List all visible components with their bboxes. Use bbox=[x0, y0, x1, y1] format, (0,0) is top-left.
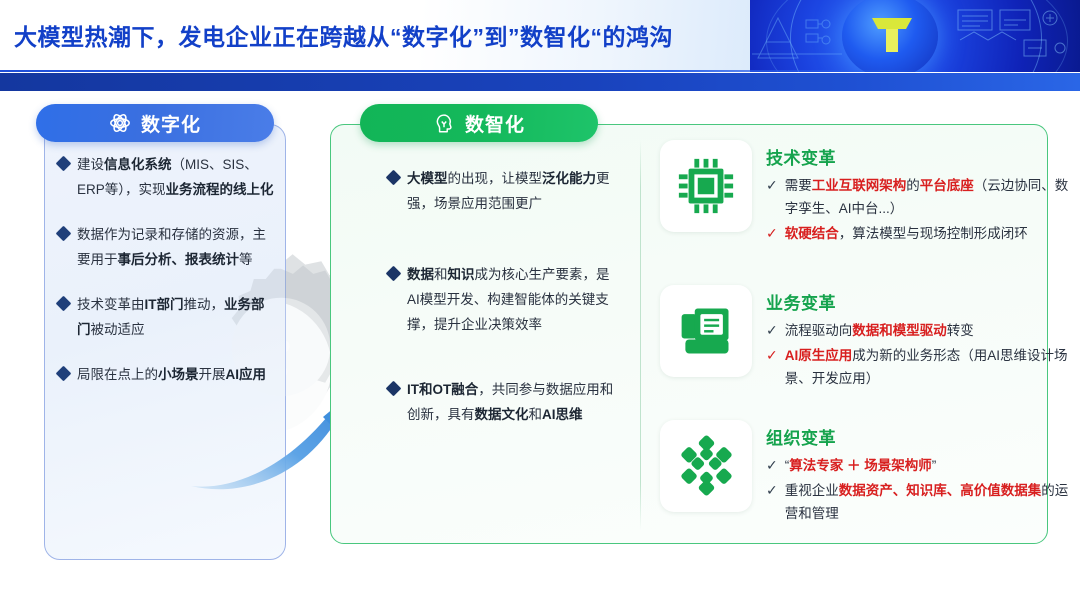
check-icon: ✓ bbox=[766, 454, 778, 477]
check-item: ✓ “算法专家 ＋ 场景架构师” bbox=[766, 454, 1080, 477]
check-icon: ✓ bbox=[766, 319, 778, 342]
atom-icon bbox=[109, 112, 131, 134]
section-title: 组织变革 bbox=[766, 424, 1080, 449]
check-icon: ✓ bbox=[766, 479, 778, 502]
check-item: ✓ 软硬结合，算法模型与现场控制形成闭环 bbox=[766, 222, 1080, 245]
check-text: 需要工业互联网架构的平台底座（云边协同、数字孪生、AI中台...） bbox=[785, 174, 1080, 220]
intelligentization-label: 数智化 bbox=[465, 110, 525, 137]
digitalization-label: 数字化 bbox=[141, 110, 201, 137]
check-item: ✓ 流程驱动向数据和模型驱动转变 bbox=[766, 319, 1080, 342]
bullet-diamond-icon bbox=[56, 156, 72, 172]
icon-tile bbox=[660, 285, 752, 377]
check-text: 软硬结合，算法模型与现场控制形成闭环 bbox=[785, 222, 1028, 245]
list-item: 技术变革由IT部门推动，业务部门被动适应 bbox=[58, 292, 276, 342]
list-item: 数据作为记录和存储的资源，主要用于事后分析、报表统计等 bbox=[58, 222, 276, 272]
bullet-text: 技术变革由IT部门推动，业务部门被动适应 bbox=[77, 292, 276, 342]
section-organization-transformation: 组织变革 ✓ “算法专家 ＋ 场景架构师” ✓ 重视企业数据资产、知识库、高价值… bbox=[660, 420, 1080, 527]
page-title: 大模型热潮下，发电企业正在跨越从“数字化”到”数智化“的鸿沟 bbox=[14, 18, 794, 52]
network-nodes-icon bbox=[675, 435, 737, 497]
intelligentization-bullet-list: 大模型的出现，让模型泛化能力更强，场景应用范围更广 数据和知识成为核心生产要素，… bbox=[388, 166, 618, 449]
list-item: 数据和知识成为核心生产要素，是AI模型开发、构建智能体的关键支撑，提升企业决策效… bbox=[388, 262, 618, 337]
check-text: 重视企业数据资产、知识库、高价值数据集的运营和管理 bbox=[785, 479, 1080, 525]
check-icon: ✓ bbox=[766, 344, 778, 367]
banner-underline bbox=[0, 70, 960, 72]
list-item: 大模型的出现，让模型泛化能力更强，场景应用范围更广 bbox=[388, 166, 618, 216]
bullet-diamond-icon bbox=[56, 296, 72, 312]
section-body: 组织变革 ✓ “算法专家 ＋ 场景架构师” ✓ 重视企业数据资产、知识库、高价值… bbox=[766, 420, 1080, 527]
check-icon: ✓ bbox=[766, 174, 778, 197]
check-text: AI原生应用成为新的业务形态（用AI思维设计场景、开发应用） bbox=[785, 344, 1080, 390]
digitalization-header-pill[interactable]: 数字化 bbox=[36, 104, 274, 142]
list-item: 局限在点上的小场景开展AI应用 bbox=[58, 362, 276, 387]
bullet-text: 大模型的出现，让模型泛化能力更强，场景应用范围更广 bbox=[407, 166, 618, 216]
bullet-diamond-icon bbox=[386, 381, 402, 397]
bullet-diamond-icon bbox=[386, 266, 402, 282]
document-stack-icon bbox=[676, 301, 736, 361]
section-title: 技术变革 bbox=[766, 144, 1080, 169]
check-item: ✓ 重视企业数据资产、知识库、高价值数据集的运营和管理 bbox=[766, 479, 1080, 525]
slide-root: 大模型热潮下，发电企业正在跨越从“数字化”到”数智化“的鸿沟 工业互联网产业联盟… bbox=[0, 0, 1080, 608]
cpu-chip-icon bbox=[675, 155, 737, 217]
section-technology-transformation: 技术变革 ✓ 需要工业互联网架构的平台底座（云边协同、数字孪生、AI中台...）… bbox=[660, 140, 1080, 247]
check-item: ✓ 需要工业互联网架构的平台底座（云边协同、数字孪生、AI中台...） bbox=[766, 174, 1080, 220]
bullet-text: 局限在点上的小场景开展AI应用 bbox=[77, 362, 266, 387]
ai-head-icon bbox=[433, 112, 455, 134]
header-banner: 大模型热潮下，发电企业正在跨越从“数字化”到”数智化“的鸿沟 bbox=[0, 0, 1080, 72]
banner-circuit-right-icon bbox=[954, 6, 1074, 66]
check-item: ✓ AI原生应用成为新的业务形态（用AI思维设计场景、开发应用） bbox=[766, 344, 1080, 390]
icon-tile bbox=[660, 140, 752, 232]
list-item: 建设信息化系统（MIS、SIS、ERP等），实现业务流程的线上化 bbox=[58, 152, 276, 202]
intelligentization-header-pill[interactable]: 数智化 bbox=[360, 104, 598, 142]
brand-t-logo-icon bbox=[868, 12, 916, 56]
bullet-text: 数据作为记录和存储的资源，主要用于事后分析、报表统计等 bbox=[77, 222, 276, 272]
bullet-text: IT和OT融合，共同参与数据应用和创新，具有数据文化和AI思维 bbox=[407, 377, 618, 427]
list-item: IT和OT融合，共同参与数据应用和创新，具有数据文化和AI思维 bbox=[388, 377, 618, 427]
banner-tech-graphic bbox=[750, 0, 1080, 72]
section-body: 业务变革 ✓ 流程驱动向数据和模型驱动转变 ✓ AI原生应用成为新的业务形态（用… bbox=[766, 285, 1080, 392]
section-business-transformation: 业务变革 ✓ 流程驱动向数据和模型驱动转变 ✓ AI原生应用成为新的业务形态（用… bbox=[660, 285, 1080, 392]
section-body: 技术变革 ✓ 需要工业互联网架构的平台底座（云边协同、数字孪生、AI中台...）… bbox=[766, 140, 1080, 247]
banner-bottom-strip bbox=[0, 73, 1080, 91]
digitalization-bullet-list: 建设信息化系统（MIS、SIS、ERP等），实现业务流程的线上化 数据作为记录和… bbox=[58, 152, 276, 407]
bullet-text: 建设信息化系统（MIS、SIS、ERP等），实现业务流程的线上化 bbox=[77, 152, 276, 202]
check-text: “算法专家 ＋ 场景架构师” bbox=[785, 454, 937, 477]
card-divider bbox=[640, 140, 641, 530]
section-title: 业务变革 bbox=[766, 289, 1080, 314]
check-text: 流程驱动向数据和模型驱动转变 bbox=[785, 319, 974, 342]
check-icon: ✓ bbox=[766, 222, 778, 245]
bullet-diamond-icon bbox=[386, 170, 402, 186]
bullet-text: 数据和知识成为核心生产要素，是AI模型开发、构建智能体的关键支撑，提升企业决策效… bbox=[407, 262, 618, 337]
bullet-diamond-icon bbox=[56, 366, 72, 382]
bullet-diamond-icon bbox=[56, 226, 72, 242]
icon-tile bbox=[660, 420, 752, 512]
